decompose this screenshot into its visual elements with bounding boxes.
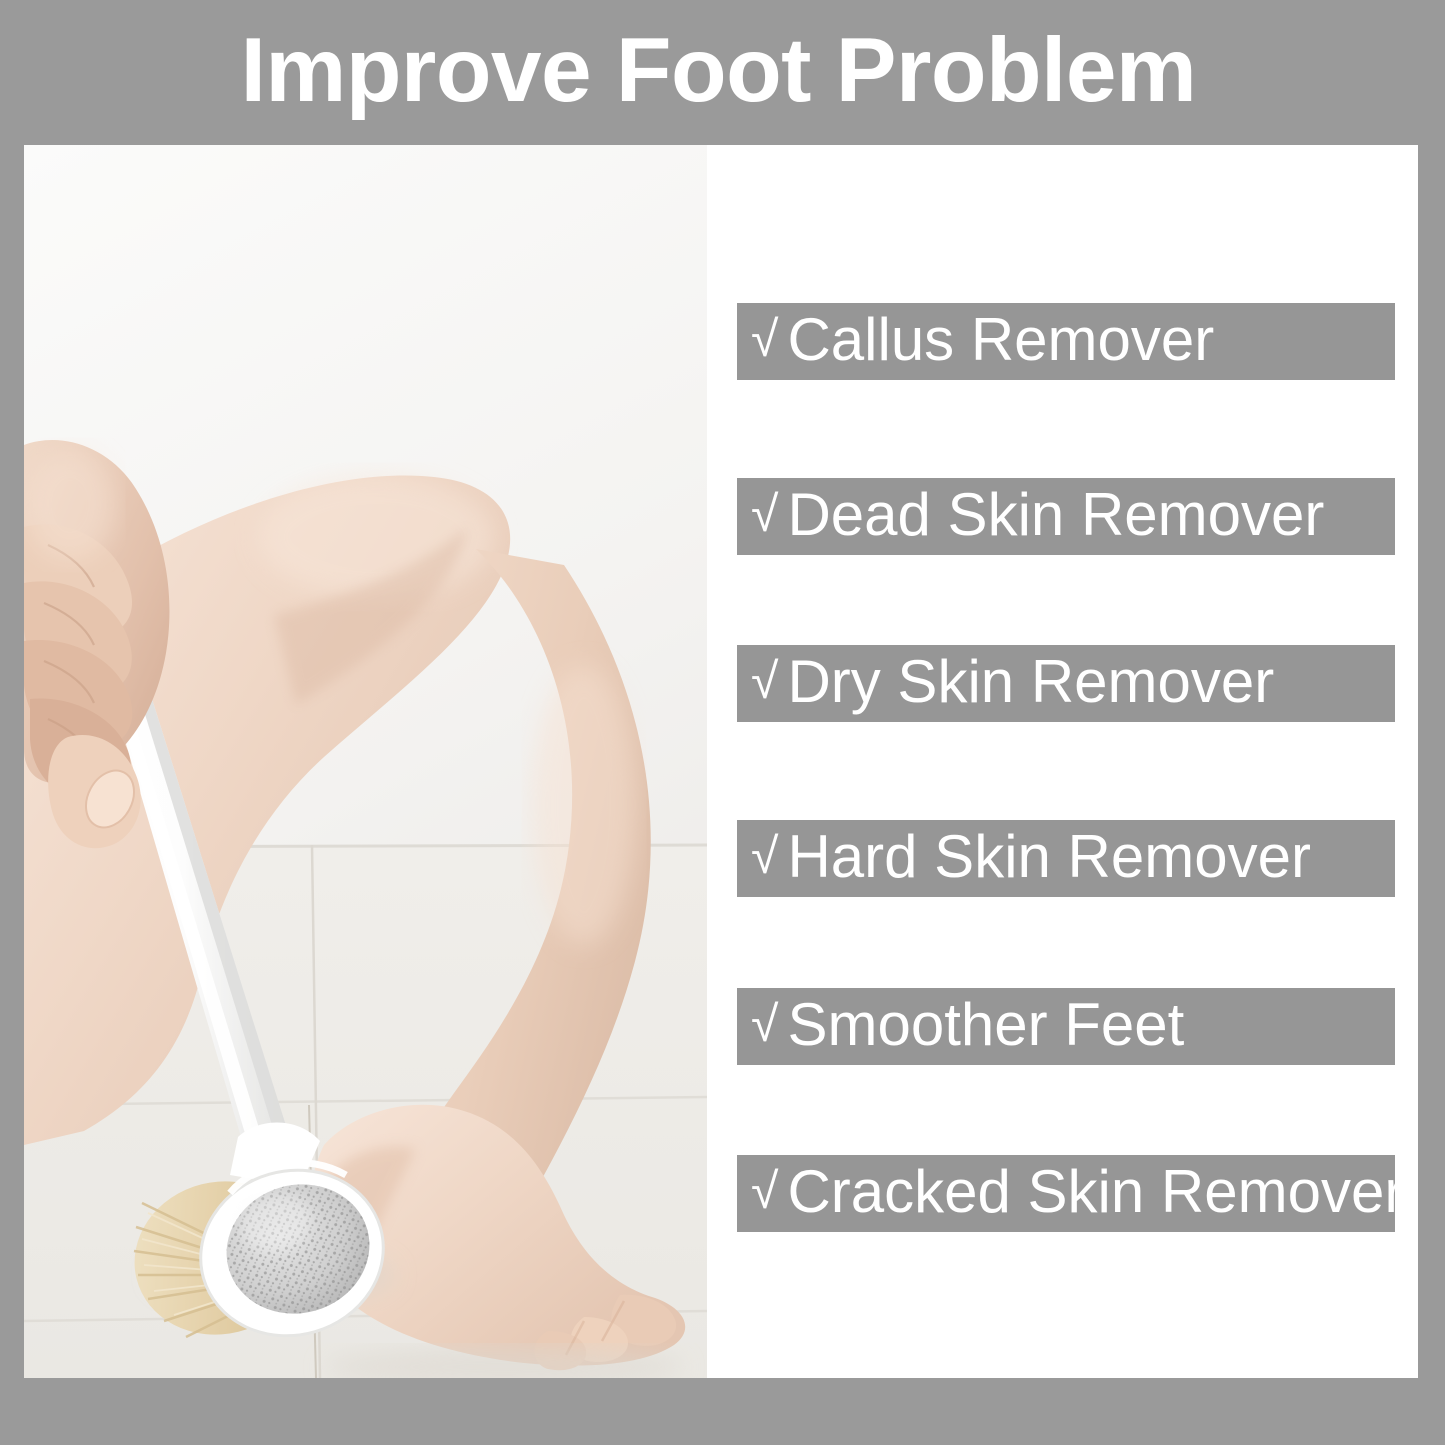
content-panel: √ Callus Remover √ Dead Skin Remover √ D…: [24, 145, 1418, 1378]
title-banner: Improve Foot Problem: [0, 0, 1445, 145]
feature-list: √ Callus Remover √ Dead Skin Remover √ D…: [737, 145, 1418, 1378]
feature-label: Smoother Feet: [787, 995, 1184, 1055]
page-title: Improve Foot Problem: [241, 25, 1197, 116]
feature-item[interactable]: √ Smoother Feet: [737, 988, 1395, 1065]
feature-item[interactable]: √ Dry Skin Remover: [737, 645, 1395, 722]
product-feature-graphic: Improve Foot Problem: [0, 0, 1445, 1445]
feature-label: Cracked Skin Remover: [787, 1162, 1404, 1222]
check-icon: √: [737, 999, 787, 1049]
product-photo: [24, 145, 707, 1378]
feature-label: Dead Skin Remover: [787, 485, 1324, 545]
feature-label: Hard Skin Remover: [787, 827, 1311, 887]
feature-item[interactable]: √ Cracked Skin Remover: [737, 1155, 1395, 1232]
check-icon: √: [737, 314, 787, 364]
feature-item[interactable]: √ Hard Skin Remover: [737, 820, 1395, 897]
feature-item[interactable]: √ Callus Remover: [737, 303, 1395, 380]
check-icon: √: [737, 831, 787, 881]
feature-label: Dry Skin Remover: [787, 652, 1274, 712]
feature-item[interactable]: √ Dead Skin Remover: [737, 478, 1395, 555]
check-icon: √: [737, 656, 787, 706]
check-icon: √: [737, 489, 787, 539]
feature-label: Callus Remover: [787, 310, 1214, 370]
check-icon: √: [737, 1166, 787, 1216]
